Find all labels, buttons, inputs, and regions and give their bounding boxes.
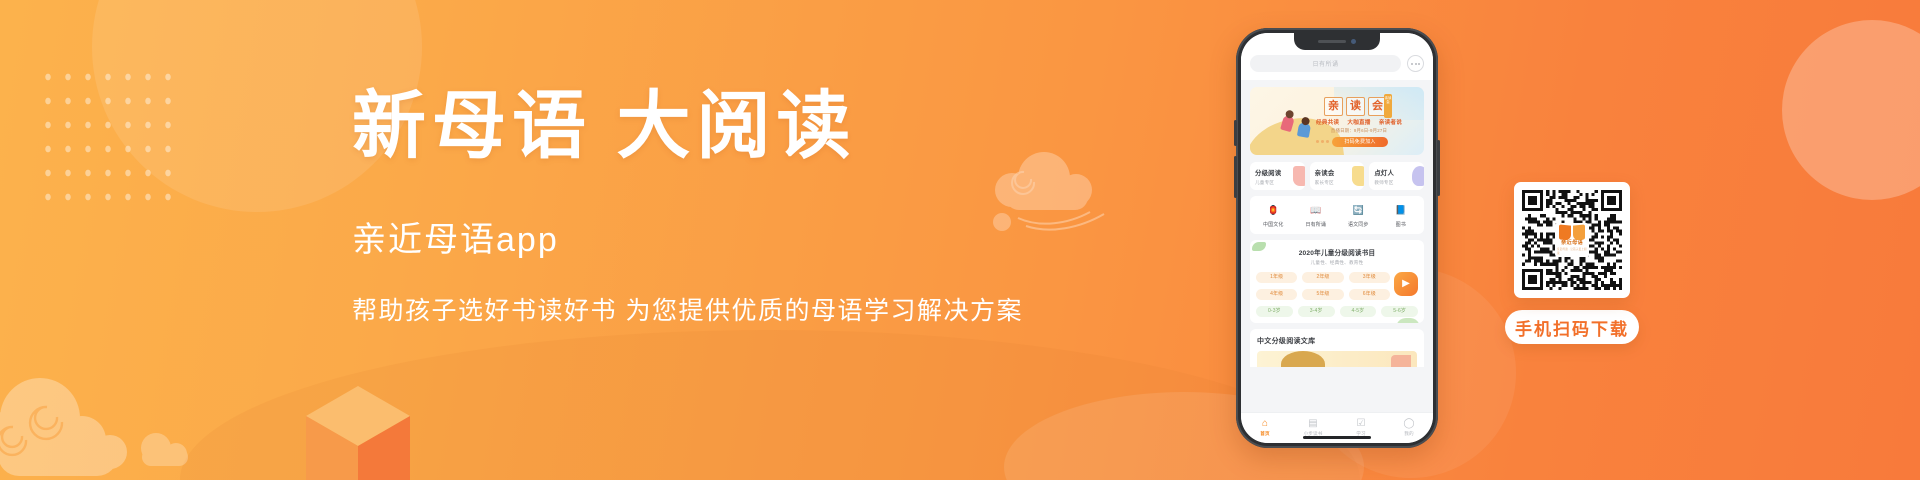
quick-item-daily-recitation[interactable]: 📖 日有所诵 — [1297, 203, 1335, 228]
decor-hill-shape — [180, 330, 1360, 480]
profile-icon: ◯ — [1403, 419, 1414, 429]
download-button[interactable]: 手机扫码下载 — [1505, 310, 1639, 344]
quick-item-books[interactable]: 📘 图书 — [1382, 203, 1420, 228]
leaf-decor-icon — [1396, 318, 1420, 323]
person-icon — [1412, 166, 1424, 186]
age-chip-row: 0-3岁 3-4岁 4-5岁 5-6岁 — [1256, 306, 1418, 317]
search-bar: 日有所诵 — [1250, 55, 1424, 72]
cloud-icon-small — [132, 428, 198, 472]
speaker-grill — [1318, 40, 1346, 43]
age-chip[interactable]: 3-4岁 — [1298, 306, 1335, 317]
library-title: 中文分级阅读文库 — [1257, 336, 1417, 346]
open-book-icon: 📖 — [1308, 203, 1323, 218]
book-logo-icon — [1559, 225, 1585, 238]
grade-chip-row-1: 1年级 2年级 3年级 ▶ — [1256, 272, 1418, 283]
booklist-title: 2020年儿童分级阅读书目 — [1256, 247, 1418, 257]
tab-study[interactable]: ☑ 学习 — [1342, 419, 1380, 437]
quick-item-chinese-culture[interactable]: 🏮 中国文化 — [1254, 203, 1292, 228]
grade-chip[interactable]: 6年级 — [1349, 289, 1390, 300]
promo-title-char: 读 — [1346, 97, 1365, 116]
sync-icon: 🔄 — [1351, 203, 1366, 218]
carousel-dots[interactable] — [1316, 140, 1329, 143]
front-camera-icon — [1351, 39, 1356, 44]
brand-name: 亲近母语 — [1561, 239, 1583, 246]
promo-title: 亲 读 会 — [1324, 97, 1387, 116]
phone-screen: 日有所诵 亲 读 会 亲读会 经典共读 大咖直播 亲读者说 — [1241, 33, 1433, 443]
promo-date-text: 直播日期：9月6日-9月27日 — [1316, 128, 1402, 134]
age-chip[interactable]: 0-3岁 — [1256, 306, 1293, 317]
app-name-label: 亲近母语app — [352, 220, 1052, 261]
category-cards: 分级阅读 儿童专区 亲读会 家长专区 点灯人 教师专区 — [1250, 162, 1424, 190]
qr-code-icon[interactable]: 亲近母语 亲近母语 · 让孩子爱上阅读 — [1514, 182, 1630, 298]
category-card-parent-club[interactable]: 亲读会 家长专区 — [1310, 162, 1365, 190]
promo-flag-label: 亲读会 — [1384, 94, 1392, 118]
banner-copy: 新母语 大阅读 亲近母语app 帮助孩子选好书读好书 为您提供优质的母语学习解决… — [352, 88, 1052, 327]
phone-mockup: 日有所诵 亲 读 会 亲读会 经典共读 大咖直播 亲读者说 — [1236, 28, 1438, 448]
search-input[interactable]: 日有所诵 — [1250, 55, 1401, 72]
cloud-icon-left — [0, 356, 168, 480]
lantern-icon: 🏮 — [1266, 203, 1281, 218]
category-card-graded-reading[interactable]: 分级阅读 儿童专区 — [1250, 162, 1305, 190]
decor-cube — [300, 376, 416, 480]
library-section[interactable]: 中文分级阅读文库 — [1250, 329, 1424, 367]
promo-feature: 经典共读 — [1316, 118, 1339, 126]
promo-cta-button[interactable]: 扫码免费加入 — [1332, 137, 1388, 147]
grade-chip[interactable]: 4年级 — [1256, 289, 1297, 300]
promo-banner: 新母语 大阅读 亲近母语app 帮助孩子选好书读好书 为您提供优质的母语学习解决… — [0, 0, 1920, 480]
promo-features: 经典共读 大咖直播 亲读者说 — [1316, 118, 1402, 126]
decor-dot-grid — [35, 62, 177, 214]
age-chip[interactable]: 5-6岁 — [1381, 306, 1418, 317]
reading-list-icon: ▤ — [1308, 419, 1317, 429]
books-icon: 📘 — [1393, 203, 1408, 218]
decor-circle-top-right — [1782, 20, 1920, 200]
home-indicator — [1303, 436, 1371, 439]
promo-feature: 亲读者说 — [1379, 118, 1402, 126]
phone-notch — [1294, 33, 1380, 50]
tab-reading[interactable]: ▤ 小步读书 — [1294, 419, 1332, 437]
library-arc-decor — [1281, 351, 1325, 367]
grade-chip[interactable]: 3年级 — [1349, 272, 1390, 283]
study-clipboard-icon: ☑ — [1357, 419, 1366, 429]
quick-icon-row: 🏮 中国文化 📖 日有所诵 🔄 语文同步 📘 图书 — [1250, 196, 1424, 234]
grade-chip-row-2: 4年级 5年级 6年级 — [1256, 289, 1418, 300]
qr-download-block: 亲近母语 亲近母语 · 让孩子爱上阅读 手机扫码下载 — [1496, 182, 1648, 344]
phone-side-button — [1437, 140, 1440, 196]
brand-logo: 亲近母语 亲近母语 · 让孩子爱上阅读 — [1555, 223, 1589, 257]
tab-profile[interactable]: ◯ 我的 — [1390, 419, 1428, 437]
age-chip[interactable]: 4-5岁 — [1340, 306, 1377, 317]
quick-item-textbook-sync[interactable]: 🔄 语文同步 — [1339, 203, 1377, 228]
grade-chip[interactable]: 5年级 — [1302, 289, 1343, 300]
tab-home[interactable]: ⌂ 首页 — [1246, 419, 1284, 437]
book-ribbon-icon — [1293, 166, 1305, 186]
quick-item-label: 中国文化 — [1263, 221, 1283, 228]
brand-slogan: 亲近母语 · 让孩子爱上阅读 — [1557, 247, 1587, 255]
promo-title-char: 亲 — [1324, 97, 1343, 116]
promo-child-figure-2 — [1297, 122, 1311, 138]
more-dots-icon[interactable] — [1407, 55, 1424, 72]
tab-label: 我的 — [1404, 431, 1413, 437]
promo-feature: 大咖直播 — [1347, 118, 1370, 126]
library-banner — [1257, 351, 1417, 367]
quick-item-label: 日有所诵 — [1306, 221, 1326, 228]
category-card-teacher-zone[interactable]: 点灯人 教师专区 — [1369, 162, 1424, 190]
folded-page-icon — [1352, 166, 1364, 186]
grade-chip[interactable]: 1年级 — [1256, 272, 1297, 283]
grade-chip[interactable]: 2年级 — [1302, 272, 1343, 283]
quick-item-label: 语文同步 — [1348, 221, 1368, 228]
tab-label: 首页 — [1260, 431, 1269, 437]
tagline-text: 帮助孩子选好书读好书 为您提供优质的母语学习解决方案 — [352, 295, 1052, 328]
home-icon: ⌂ — [1262, 419, 1268, 429]
promo-card[interactable]: 亲 读 会 亲读会 经典共读 大咖直播 亲读者说 直播日期：9月6日-9月27日… — [1250, 87, 1424, 155]
page-title: 新母语 大阅读 — [352, 88, 1052, 168]
booklist-subtitle: 儿童性、经典性、教育性 — [1256, 260, 1418, 266]
library-page-decor — [1391, 355, 1411, 367]
graded-booklist-section: 2020年儿童分级阅读书目 儿童性、经典性、教育性 1年级 2年级 3年级 ▶ … — [1250, 240, 1424, 323]
quick-item-label: 图书 — [1396, 221, 1406, 228]
